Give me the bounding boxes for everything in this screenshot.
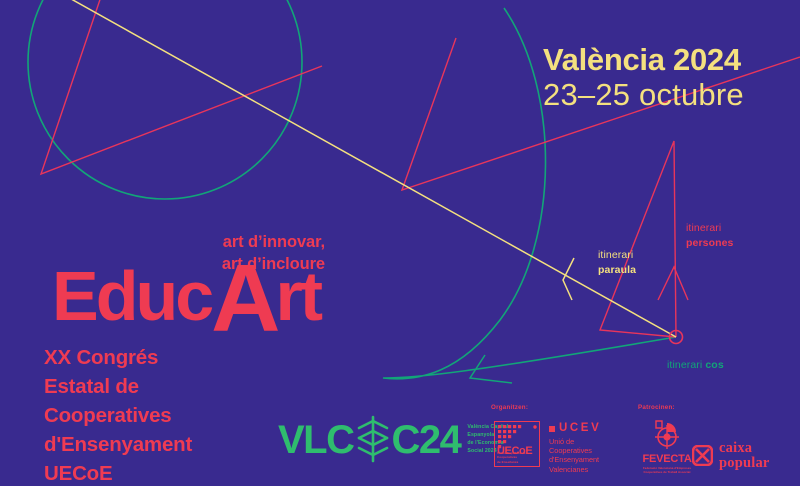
caixa-popular-text: caixa popular bbox=[719, 441, 770, 471]
itinerari-persones-lead: itinerari bbox=[686, 221, 734, 236]
itinerari-cos-label: itinerari cos bbox=[667, 358, 724, 373]
convergence-node bbox=[670, 331, 683, 344]
caixa-popular-logo: caixa popular bbox=[692, 441, 770, 471]
ucev-tagline: Unió de Cooperatives d'Ensenyament Valen… bbox=[549, 437, 601, 475]
vlc-asterisk-icon bbox=[355, 415, 391, 465]
teal-arrowhead bbox=[470, 355, 512, 383]
itinerari-cos-key: cos bbox=[705, 359, 723, 371]
tagline-line-1: art d’innovar, bbox=[55, 232, 325, 254]
organisers-label: Organitzen: bbox=[491, 404, 528, 411]
wordmark-rt: rt bbox=[275, 264, 320, 330]
caixa-line-1: caixa bbox=[719, 441, 770, 456]
itinerari-cos-lead: itinerari bbox=[667, 359, 702, 371]
congress-line-4: d'Ensenyament bbox=[44, 430, 192, 459]
congress-title: XX Congrés Estatal de Cooperatives d'Ens… bbox=[44, 343, 192, 486]
vlc-c24-logo: VLC C24 València Capital Espanyola de l'… bbox=[278, 415, 509, 465]
red-triangle-left bbox=[41, 0, 322, 174]
vlc-word: VLC bbox=[278, 420, 354, 460]
red-arrowhead bbox=[658, 267, 688, 300]
ucev-name: UCEV bbox=[559, 423, 601, 435]
itinerari-paraula-label: itinerari paraula bbox=[598, 248, 636, 278]
educart-wordmark: Educ A rt bbox=[52, 262, 320, 330]
fevecta-target-icon bbox=[649, 436, 685, 453]
event-days: 23–25 octubre bbox=[543, 77, 744, 114]
event-date-block: València 2024 23–25 octubre bbox=[543, 44, 744, 113]
wordmark-a-triangle: A bbox=[211, 254, 275, 344]
uecoe-tagline: Unión Española de Cooperativas de Enseña… bbox=[497, 451, 539, 464]
itinerari-paraula-key: paraula bbox=[598, 263, 636, 278]
ucev-logo: UCEV Unió de Cooperatives d'Ensenyament … bbox=[549, 423, 601, 474]
congress-line-3: Cooperatives bbox=[44, 401, 192, 430]
congress-line-5: UECoE bbox=[44, 459, 192, 486]
fevecta-tagline: Federació Valenciana d'Empreses Cooperat… bbox=[638, 466, 696, 475]
event-city-year: València 2024 bbox=[543, 44, 744, 77]
red-path-persones bbox=[600, 141, 676, 337]
caixa-popular-mark-icon bbox=[692, 445, 713, 466]
fevecta-logo: FEVECTA Federació Valenciana d'Empreses … bbox=[638, 419, 696, 475]
ucev-square-icon bbox=[549, 426, 555, 432]
teal-circle-upper bbox=[28, 0, 302, 199]
yellow-arrowhead bbox=[563, 258, 574, 300]
uecoe-logo: UECoE Unión Española de Cooperativas de … bbox=[494, 421, 540, 467]
fevecta-name: FEVECTA bbox=[638, 454, 696, 465]
sponsors-label: Patrocinen: bbox=[638, 404, 675, 411]
ucev-name-row: UCEV bbox=[549, 423, 601, 435]
congress-line-1: XX Congrés bbox=[44, 343, 192, 372]
caixa-line-2: popular bbox=[719, 456, 770, 471]
itinerari-paraula-lead: itinerari bbox=[598, 248, 636, 263]
itinerari-persones-label: itinerari persones bbox=[686, 221, 734, 251]
wordmark-educ: Educ bbox=[52, 264, 211, 330]
poster-canvas: València 2024 23–25 octubre art d’innova… bbox=[0, 0, 800, 486]
itinerari-persones-key: persones bbox=[686, 236, 734, 251]
c24-word: C24 bbox=[392, 420, 461, 460]
congress-line-2: Estatal de bbox=[44, 372, 192, 401]
